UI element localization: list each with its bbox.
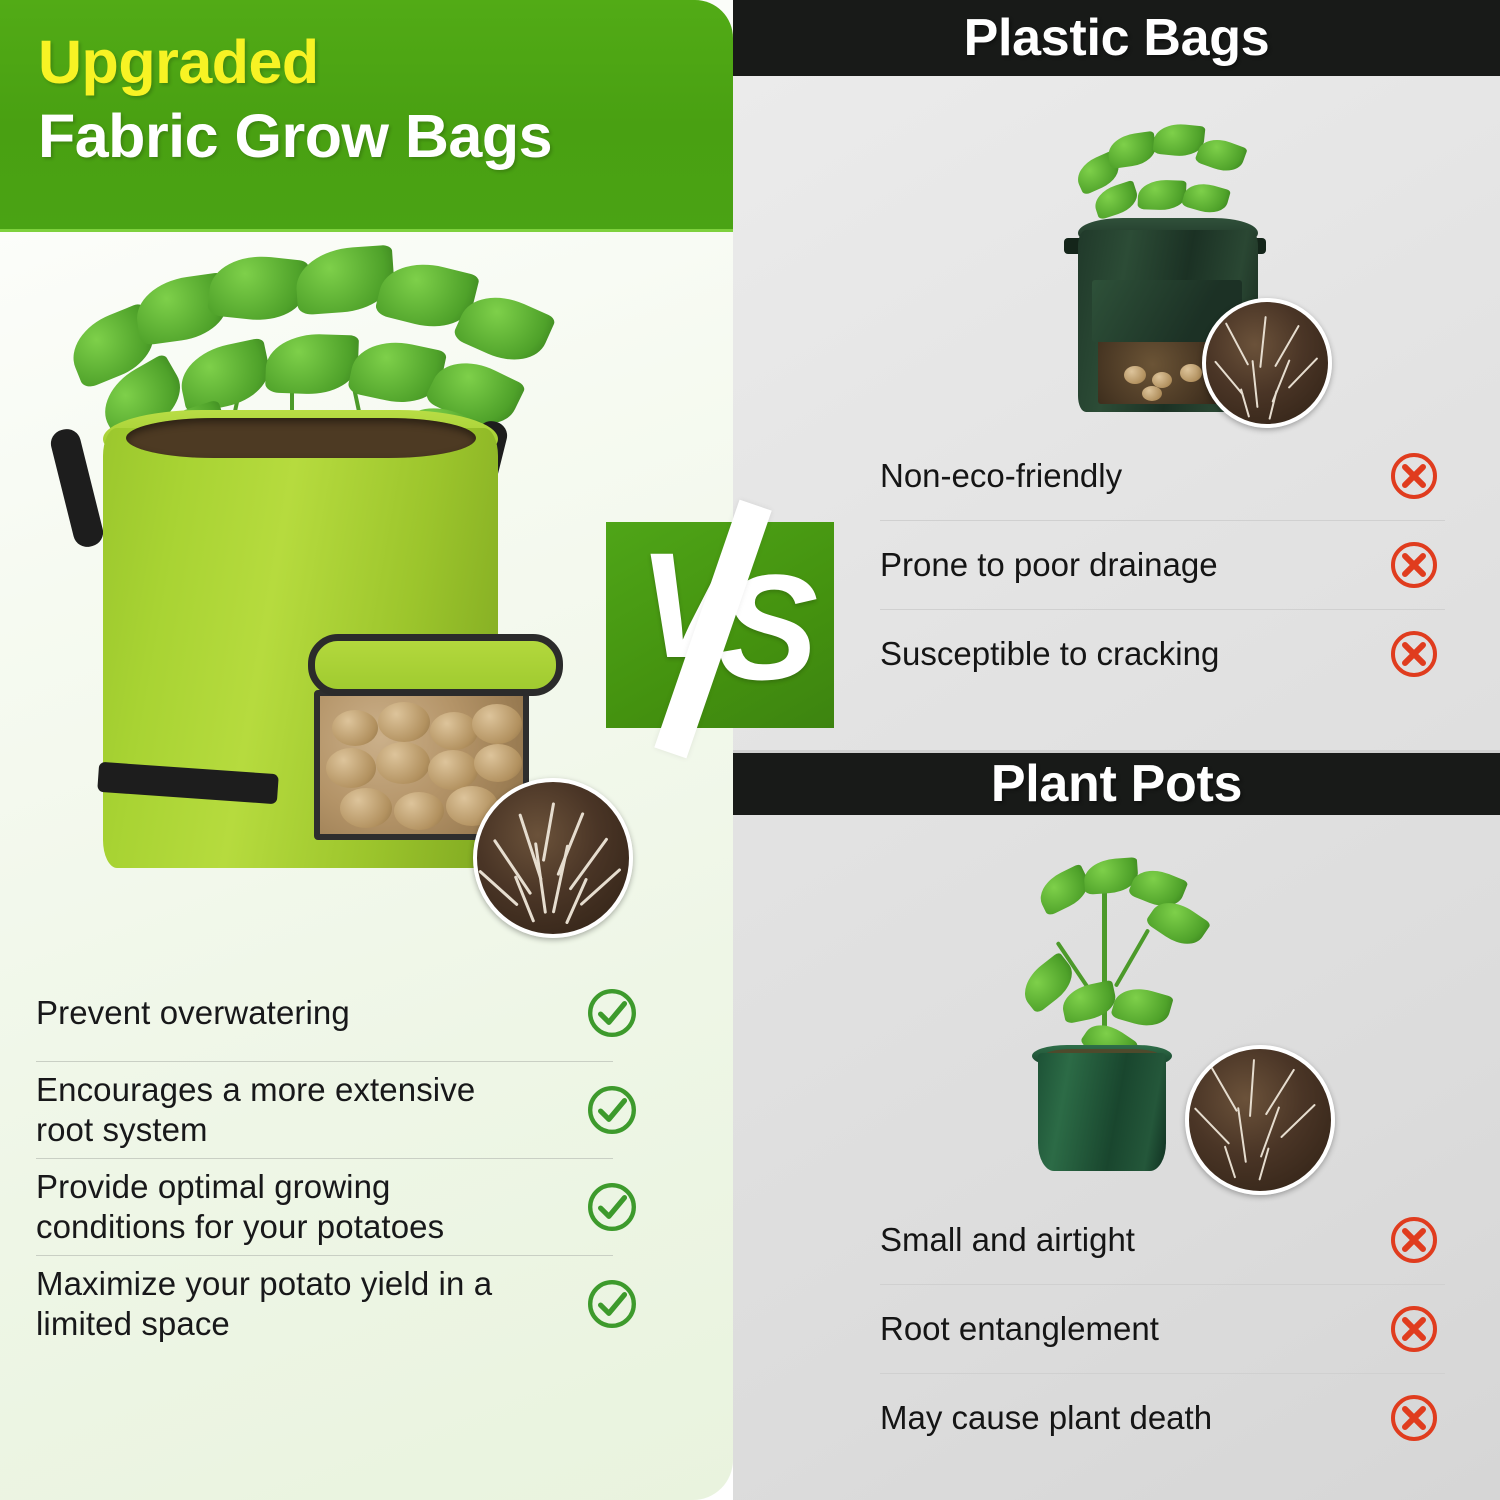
root-closeup-inset	[473, 778, 633, 938]
x-circle-icon	[1388, 1214, 1440, 1266]
check-circle-icon	[585, 1083, 639, 1137]
plastic-bags-cons-list: Non-eco-friendly Prone to poor drainage …	[733, 432, 1500, 698]
section-banner-plastic-bags: Plastic Bags	[733, 0, 1500, 76]
benefit-row: Maximize your potato yield in a limited …	[0, 1256, 733, 1352]
x-circle-icon	[1388, 1392, 1440, 1444]
plant-pots-cons-list: Small and airtight Root entanglement May…	[733, 1196, 1500, 1462]
con-label: Non-eco-friendly	[880, 456, 1320, 496]
header-line-product-name: Fabric Grow Bags	[38, 104, 552, 168]
section-banner-plant-pots: Plant Pots	[733, 750, 1500, 815]
benefit-label: Maximize your potato yield in a limited …	[36, 1264, 536, 1345]
left-header-banner: Upgraded Fabric Grow Bags	[0, 0, 733, 229]
x-circle-icon	[1388, 450, 1440, 502]
con-label: Root entanglement	[880, 1309, 1320, 1349]
x-circle-icon	[1388, 1303, 1440, 1355]
product-comparison-poster: Upgraded Fabric Grow Bags	[0, 0, 1500, 1500]
con-row: Susceptible to cracking	[733, 610, 1500, 698]
con-label: Prone to poor drainage	[880, 545, 1320, 585]
bag-soil-top	[126, 418, 476, 458]
plastic-bag-root-closeup-inset	[1202, 298, 1332, 428]
x-circle-icon	[1388, 628, 1440, 680]
check-circle-icon	[585, 1277, 639, 1331]
con-row: Small and airtight	[733, 1196, 1500, 1284]
con-label: Susceptible to cracking	[880, 634, 1320, 674]
nursery-pot	[1038, 1053, 1166, 1171]
con-row: May cause plant death	[733, 1374, 1500, 1462]
vs-badge: V S	[600, 512, 840, 744]
bag-velcro-flap	[308, 634, 563, 696]
benefits-list: Prevent overwatering Encourages a more e…	[0, 965, 733, 1352]
header-line-upgraded: Upgraded	[38, 30, 319, 94]
con-row: Non-eco-friendly	[733, 432, 1500, 520]
con-label: Small and airtight	[880, 1220, 1320, 1260]
benefit-row: Provide optimal growing conditions for y…	[0, 1159, 733, 1255]
benefit-label: Provide optimal growing conditions for y…	[36, 1167, 536, 1248]
plant-pot-product-image	[980, 855, 1380, 1190]
x-circle-icon	[1388, 539, 1440, 591]
check-circle-icon	[585, 1180, 639, 1234]
fabric-grow-bag-product-image	[18, 238, 658, 938]
con-row: Root entanglement	[733, 1285, 1500, 1373]
con-row: Prone to poor drainage	[733, 521, 1500, 609]
check-circle-icon	[585, 986, 639, 1040]
left-panel-fabric-grow-bags: Upgraded Fabric Grow Bags	[0, 0, 733, 1500]
plant-pot-root-closeup-inset	[1185, 1045, 1335, 1195]
benefit-row: Prevent overwatering	[0, 965, 733, 1061]
benefit-row: Encourages a more extensive root system	[0, 1062, 733, 1158]
benefit-label: Encourages a more extensive root system	[36, 1070, 536, 1151]
con-label: May cause plant death	[880, 1398, 1320, 1438]
benefit-label: Prevent overwatering	[36, 993, 536, 1033]
section-title: Plant Pots	[991, 754, 1242, 814]
plastic-bag-foliage	[1068, 114, 1268, 234]
section-title: Plastic Bags	[964, 8, 1270, 68]
plastic-bag-product-image	[1040, 120, 1340, 420]
